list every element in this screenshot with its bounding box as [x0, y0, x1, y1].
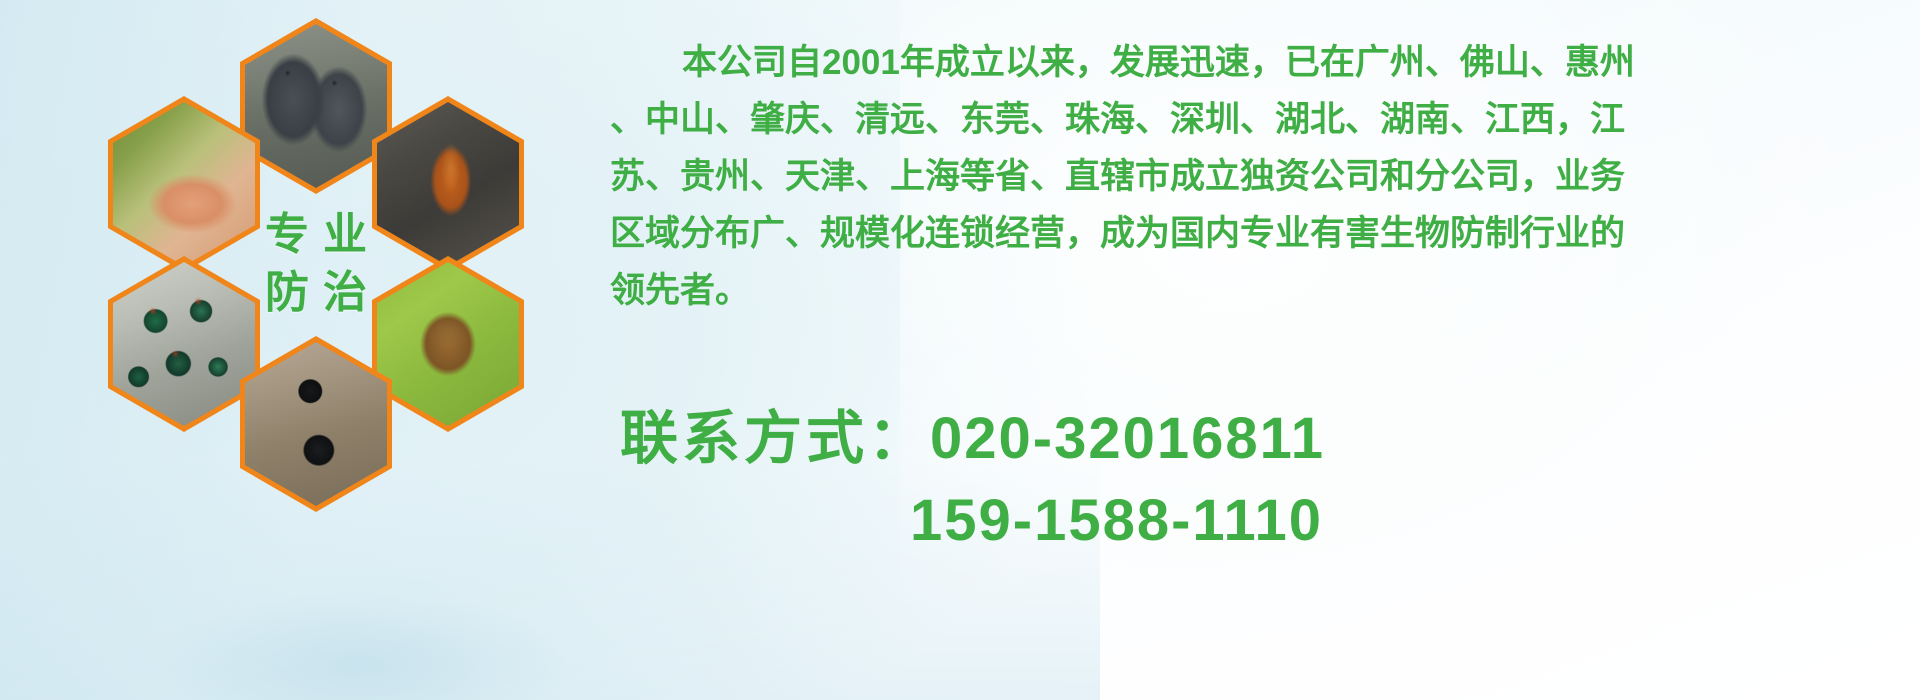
slogan-line-2: 防治 — [251, 271, 381, 315]
intro-copy-block: 本公司自2001年成立以来，发展迅速，已在广州、佛山、惠州 、中山、肇庆、清远、… — [610, 34, 1910, 319]
contact-phone-primary[interactable]: 020-32016811 — [930, 406, 1325, 471]
intro-line-2: 、中山、肇庆、清远、东莞、珠海、深圳、湖北、湖南、江西，江 — [610, 91, 1910, 148]
hex-photo-rats — [240, 18, 392, 194]
hex-photo-flies — [108, 256, 260, 432]
contact-phone-secondary[interactable]: 159-1588-1110 — [910, 488, 1323, 553]
cockroach-image — [377, 102, 519, 266]
ant-image — [245, 342, 387, 506]
hex-photo-mosquito-inner — [113, 102, 255, 266]
hex-photo-ant — [240, 336, 392, 512]
promo-banner: 专业 防治 本公司自2001年成立以来，发展迅速，已在广州、佛山、惠州 、中山、… — [0, 0, 1920, 700]
contact-block: 联系方式：020-32016811 159-1588-1110 — [620, 398, 1920, 562]
stinkbug-image — [377, 262, 519, 426]
intro-line-3: 苏、贵州、天津、上海等省、直辖市成立独资公司和分公司，业务 — [610, 148, 1910, 205]
hex-photo-cockroach-inner — [377, 102, 519, 266]
hex-photo-mosquito — [108, 96, 260, 272]
mosquito-image — [113, 102, 255, 266]
hexagon-photo-cluster: 专业 防治 — [92, 8, 592, 568]
hex-photo-rats-inner — [245, 24, 387, 188]
contact-primary-row: 联系方式：020-32016811 — [620, 398, 1920, 480]
flies-image — [113, 262, 255, 426]
hex-photo-stinkbug-inner — [377, 262, 519, 426]
slogan-line-1: 专业 — [251, 213, 381, 257]
hex-photo-ant-inner — [245, 342, 387, 506]
hex-photo-flies-inner — [113, 262, 255, 426]
intro-line-1: 本公司自2001年成立以来，发展迅速，已在广州、佛山、惠州 — [610, 34, 1910, 91]
intro-line-4: 区域分布广、规模化连锁经营，成为国内专业有害生物防制行业的 — [610, 205, 1910, 262]
intro-line-5: 领先者。 — [610, 262, 1910, 319]
hex-center-slogan: 专业 防治 — [240, 176, 392, 352]
hex-photo-cockroach — [372, 96, 524, 272]
contact-label: 联系方式： — [620, 406, 930, 471]
contact-secondary-row: 159-1588-1110 — [620, 480, 1920, 562]
intro-paragraph: 本公司自2001年成立以来，发展迅速，已在广州、佛山、惠州 、中山、肇庆、清远、… — [610, 34, 1910, 319]
rats-image — [245, 24, 387, 188]
background-blob — [150, 590, 570, 700]
hex-photo-stinkbug — [372, 256, 524, 432]
hex-center-slogan-label: 专业 防治 — [240, 176, 392, 352]
